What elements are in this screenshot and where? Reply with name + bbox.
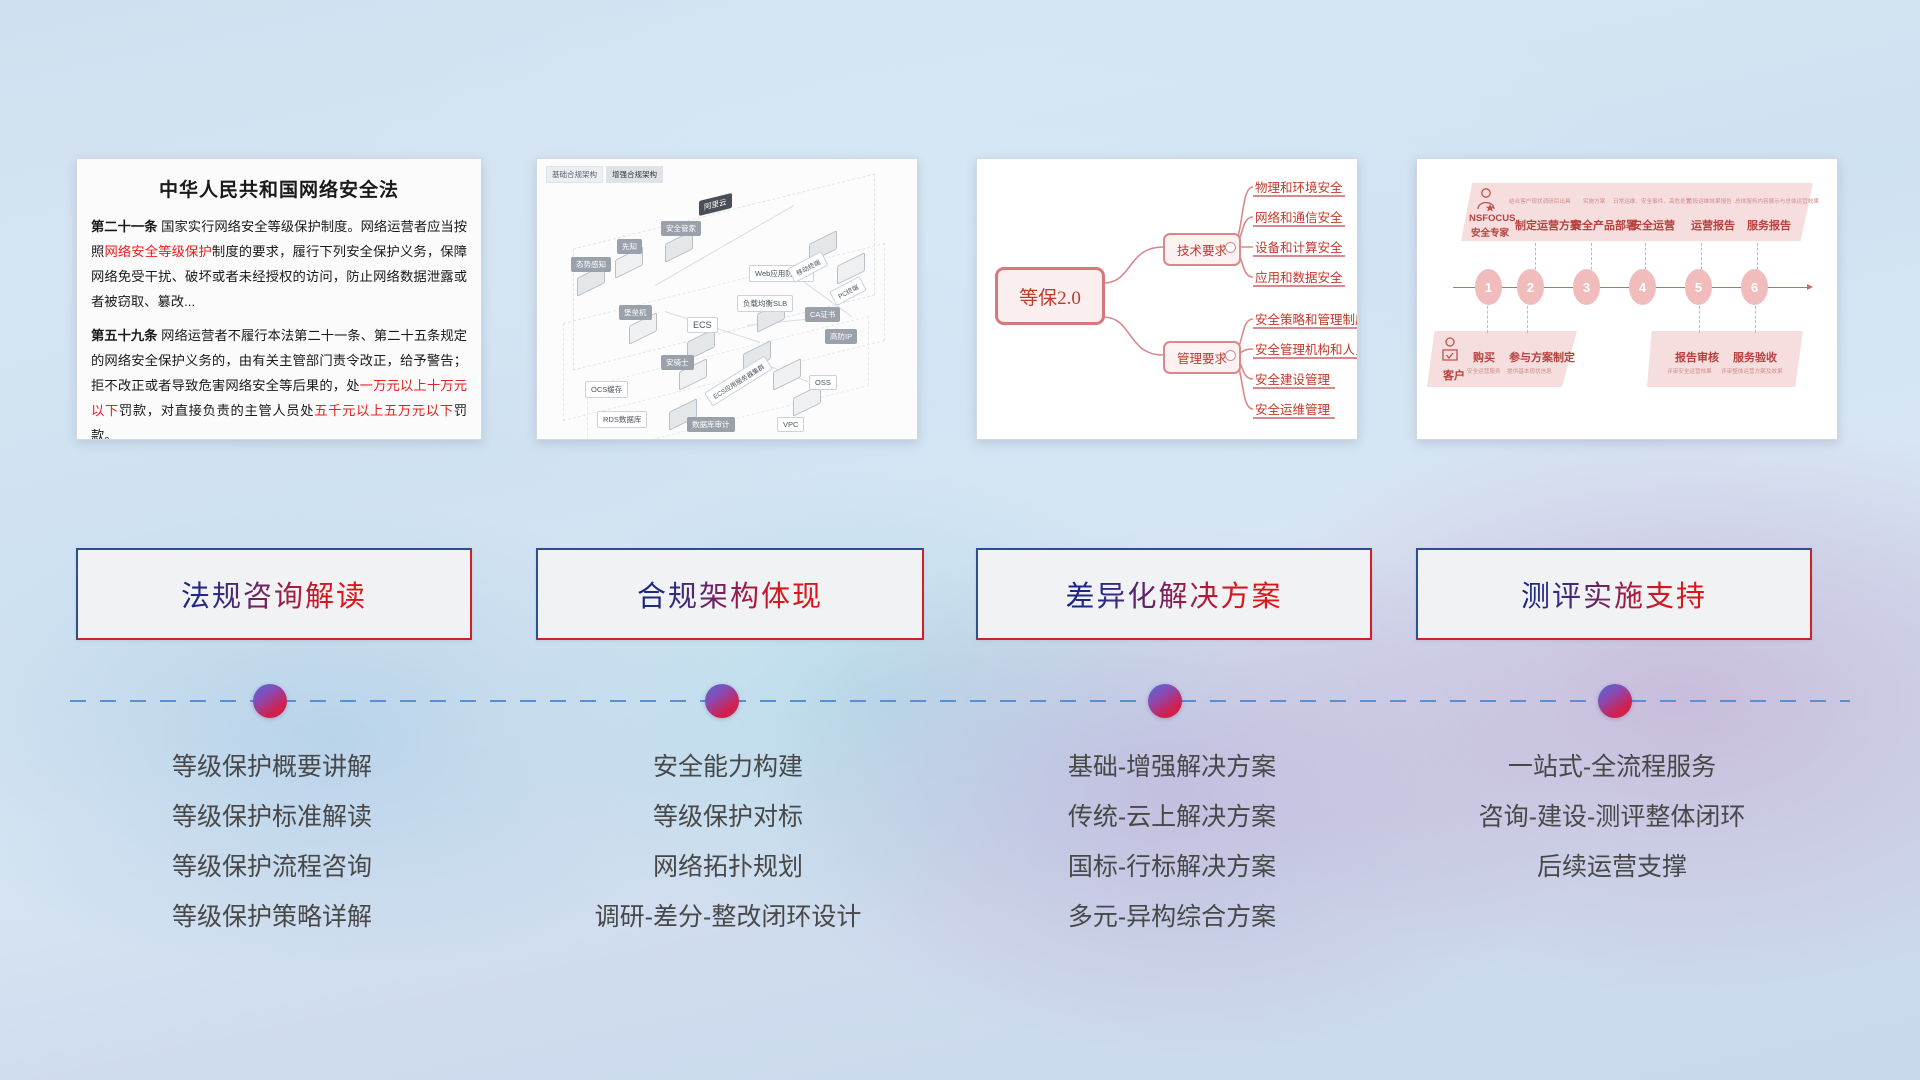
- timeline-step-6: 6: [1741, 269, 1768, 305]
- list-item: 网络拓扑规划: [530, 842, 926, 892]
- timeline-bottom-right-sub-2: 评审整体运营方案及效果: [1721, 367, 1783, 375]
- mindmap-leaf-operation: 安全运维管理: [1255, 399, 1330, 418]
- law-title: 中华人民共和国网络安全法: [77, 175, 481, 202]
- mindmap-leaf-physical: 物理和环境安全: [1255, 177, 1343, 196]
- mindmap-leaf-underline-construction: [1253, 387, 1335, 389]
- card-law-text: 中华人民共和国网络安全法 第二十一条 国家实行网络安全等级保护制度。网络运营者应…: [76, 158, 482, 440]
- law-article-21-highlight: 网络安全等级保护: [104, 244, 211, 259]
- column-list-2: 安全能力构建 等级保护对标 网络拓扑规划 调研-差分-整改闭环设计: [530, 742, 926, 942]
- list-item: 等级保护概要讲解: [76, 742, 468, 792]
- timeline-bottom-right-band: [1647, 331, 1803, 387]
- timeline-bottom-left-main-1: 购买: [1473, 349, 1495, 365]
- mindmap-leaf-underline-policy: [1253, 327, 1357, 329]
- timeline-bottom-right-main-1: 报告审核: [1675, 349, 1719, 365]
- timeline-bottom-right-sub-1: 评审安全运营效果: [1667, 367, 1712, 375]
- timeline-top-main-4: 安全运营: [1631, 217, 1675, 233]
- timeline-bottom-left-sub-2: 提供基本现状信息: [1507, 367, 1552, 375]
- timeline-step-2: 2: [1517, 269, 1544, 305]
- architecture-tabs: 基础合规架构 增强合规架构: [546, 166, 663, 183]
- label-box-2[interactable]: 合规架构体现: [536, 548, 924, 640]
- timeline-step-3: 3: [1573, 269, 1600, 305]
- timeline-top-main-3: 安全产品部署: [1571, 217, 1637, 233]
- list-item: 国标-行标解决方案: [976, 842, 1368, 892]
- mindmap-leaf-organization: 安全管理机构和人员: [1255, 339, 1358, 358]
- architecture-diagram: 基础合规架构 增强合规架构: [537, 159, 917, 439]
- timeline-bottom-right-main-2: 服务验收: [1733, 349, 1777, 365]
- list-item: 等级保护流程咨询: [76, 842, 468, 892]
- mindmap-diagram: 等保2.0 技术要求 管理要求 物理和环境安全 网络和通信安全 设备和计算安全 …: [977, 159, 1357, 439]
- label-box-3[interactable]: 差异化解决方案: [976, 548, 1372, 640]
- mindmap-leaf-underline-device: [1253, 255, 1345, 257]
- timeline-top-main-5: 运营报告: [1691, 217, 1735, 233]
- law-article-59-text-b: 罚款，对直接负责的主管人员处: [119, 403, 314, 418]
- arch-node-slb: 负载均衡SLB: [737, 295, 793, 312]
- timeline-top-sub-4: 日常运维、安全事件、高危处置: [1613, 197, 1691, 205]
- arch-node-ca: CA证书: [805, 307, 840, 322]
- arch-node-anquanguanjia: 安全管家: [661, 221, 701, 236]
- mindmap-leaf-underline-operation: [1253, 417, 1335, 419]
- service-timeline-diagram: NSFOCUS 安全专家 结合客户现状调研后出具 制定运营方案 实施方案 安全产…: [1417, 159, 1837, 439]
- mindmap-leaf-underline-physical: [1253, 195, 1345, 197]
- mindmap-leaf-underline-organization: [1253, 357, 1357, 359]
- column-list-1: 等级保护概要讲解 等级保护标准解读 等级保护流程咨询 等级保护策略详解: [76, 742, 468, 942]
- arch-node-ocs: OCS缓存: [585, 381, 628, 398]
- column-list-4: 一站式-全流程服务 咨询-建设-测评整体闭环 后续运营支撑: [1416, 742, 1808, 892]
- column-list-3: 基础-增强解决方案 传统-云上解决方案 国标-行标解决方案 多元-异构综合方案: [976, 742, 1368, 942]
- timeline-dot-4[interactable]: [1598, 684, 1632, 718]
- arch-node-vpc: VPC: [777, 417, 804, 432]
- mindmap-leaf-construction: 安全建设管理: [1255, 369, 1330, 388]
- mindmap-leaf-underline-application: [1253, 285, 1345, 287]
- list-item: 咨询-建设-测评整体闭环: [1416, 792, 1808, 842]
- timeline-bottom-left-main-2: 参与方案制定: [1509, 349, 1575, 365]
- timeline-top-sub-5: 阶段运维效果报告: [1687, 197, 1732, 205]
- timeline-top-sub-3: 实施方案: [1583, 197, 1605, 205]
- timeline-top-main-6: 服务报告: [1747, 217, 1791, 233]
- arch-node-db-audit: 数据库审计: [687, 417, 735, 432]
- label-box-4[interactable]: 测评实施支持: [1416, 548, 1812, 640]
- architecture-tab-enhanced[interactable]: 增强合规架构: [606, 166, 663, 183]
- label-box-4-text: 测评实施支持: [1521, 573, 1707, 615]
- list-item: 基础-增强解决方案: [976, 742, 1368, 792]
- card-service-timeline: NSFOCUS 安全专家 结合客户现状调研后出具 制定运营方案 实施方案 安全产…: [1416, 158, 1838, 440]
- law-paragraph-21: 第二十一条 国家实行网络安全等级保护制度。网络运营者应当按照网络安全等级保护制度…: [91, 214, 467, 314]
- timeline-connector-1-down: [1487, 301, 1489, 333]
- law-body: 第二十一条 国家实行网络安全等级保护制度。网络运营者应当按照网络安全等级保护制度…: [77, 214, 481, 440]
- timeline-step-5: 5: [1685, 269, 1712, 305]
- mindmap-leaf-policy: 安全策略和管理制度: [1255, 309, 1358, 328]
- label-box-1[interactable]: 法规咨询解读: [76, 548, 472, 640]
- list-item: 传统-云上解决方案: [976, 792, 1368, 842]
- list-item: 安全能力构建: [530, 742, 926, 792]
- label-box-2-text: 合规架构体现: [637, 573, 823, 615]
- arch-node-taishiganzhi: 态势感知: [571, 257, 611, 272]
- timeline-connector-6-down: [1755, 301, 1757, 333]
- label-box-3-text: 差异化解决方案: [1065, 573, 1282, 615]
- mindmap-node-dot-technical[interactable]: [1225, 242, 1236, 253]
- list-item: 调研-差分-整改闭环设计: [530, 892, 926, 942]
- card-cloud-architecture: 基础合规架构 增强合规架构: [536, 158, 918, 440]
- poster-root: 中华人民共和国网络安全法 第二十一条 国家实行网络安全等级保护制度。网络运营者应…: [0, 0, 1920, 1080]
- arch-node-baoleiji: 堡垒机: [619, 305, 652, 320]
- arch-node-anqishi: 安骑士: [661, 355, 694, 370]
- timeline-axis-arrow-icon: [1807, 284, 1813, 290]
- customer-person-icon: [1439, 337, 1461, 367]
- law-article-21-label: 第二十一条: [91, 219, 157, 234]
- label-box-1-text: 法规咨询解读: [181, 573, 367, 615]
- law-article-59-label: 第五十九条: [91, 328, 157, 343]
- list-item: 多元-异构综合方案: [976, 892, 1368, 942]
- arch-node-ecs: ECS: [687, 317, 718, 333]
- timeline-connector-2-down: [1527, 301, 1529, 333]
- mindmap-root: 等保2.0: [995, 267, 1105, 325]
- timeline-top-sub-6: 总体服务内容展示与总体运营效果: [1735, 197, 1819, 205]
- timeline-dot-1[interactable]: [253, 684, 287, 718]
- mindmap-leaf-network: 网络和通信安全: [1255, 207, 1343, 226]
- timeline-dot-2[interactable]: [705, 684, 739, 718]
- mindmap-node-dot-management[interactable]: [1225, 350, 1236, 361]
- timeline-actor-customer: 客户: [1443, 367, 1465, 383]
- list-item: 等级保护对标: [530, 792, 926, 842]
- law-article-59-highlight-2: 五千元以上五万元以下: [314, 403, 454, 418]
- card-mindmap: 等保2.0 技术要求 管理要求 物理和环境安全 网络和通信安全 设备和计算安全 …: [976, 158, 1358, 440]
- timeline-actor-expert-line1: NSFOCUS: [1469, 213, 1515, 224]
- timeline-rail: [70, 700, 1850, 702]
- arch-node-xianzhi: 先知: [617, 239, 642, 254]
- arch-node-rds: RDS数据库: [597, 411, 647, 428]
- list-item: 等级保护标准解读: [76, 792, 468, 842]
- mindmap-leaf-application: 应用和数据安全: [1255, 267, 1343, 286]
- list-item: 后续运营支撑: [1416, 842, 1808, 892]
- list-item: 等级保护策略详解: [76, 892, 468, 942]
- timeline-connector-5-down: [1699, 301, 1701, 333]
- timeline-dot-3[interactable]: [1148, 684, 1182, 718]
- arch-node-ddos: 高防IP: [825, 329, 857, 344]
- timeline-step-1: 1: [1475, 269, 1502, 305]
- architecture-tab-basic[interactable]: 基础合规架构: [546, 166, 603, 183]
- mindmap-leaf-underline-network: [1253, 225, 1345, 227]
- law-paragraph-59: 第五十九条 网络运营者不履行本法第二十一条、第二十五条规定的网络安全保护义务的，…: [91, 323, 467, 440]
- timeline-actor-expert-line2: 安全专家: [1471, 225, 1509, 239]
- arch-node-oss: OSS: [809, 375, 837, 390]
- timeline-bottom-left-sub-1: 安全运营服务: [1467, 367, 1501, 375]
- timeline-top-sub-2: 结合客户现状调研后出具: [1509, 197, 1571, 205]
- timeline-step-4: 4: [1629, 269, 1656, 305]
- list-item: 一站式-全流程服务: [1416, 742, 1808, 792]
- expert-person-icon: [1473, 187, 1499, 213]
- mindmap-leaf-device: 设备和计算安全: [1255, 237, 1343, 256]
